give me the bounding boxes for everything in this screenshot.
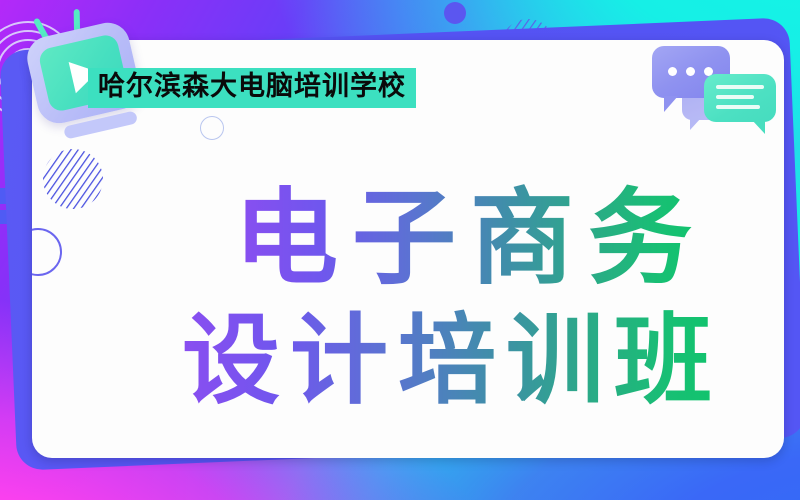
striped-circle-icon <box>42 148 104 210</box>
chat-bubbles-icon <box>648 44 776 142</box>
circle-outline-icon <box>200 116 224 140</box>
poster-title-line-1: 电子商务 <box>234 182 706 294</box>
bubble-dot <box>668 67 677 76</box>
bubble-line <box>716 85 764 89</box>
school-name-badge: 哈尔滨森大电脑培训学校 <box>88 68 416 108</box>
school-name-text: 哈尔滨森大电脑培训学校 <box>98 72 406 102</box>
circle-outline-icon <box>32 228 62 276</box>
poster-title-line-2: 设计培训班 <box>182 308 722 414</box>
bubble-line <box>716 95 754 99</box>
left-notch-lower <box>0 210 14 224</box>
bubble-line <box>716 105 760 109</box>
chat-bubble-green <box>704 74 776 122</box>
bubble-dot <box>686 67 695 76</box>
left-notch-upper <box>0 188 14 204</box>
blue-dot-icon <box>444 2 466 24</box>
promo-poster: 电子商务 设计培训班 哈尔滨森大电脑培训学校 <box>0 0 800 500</box>
